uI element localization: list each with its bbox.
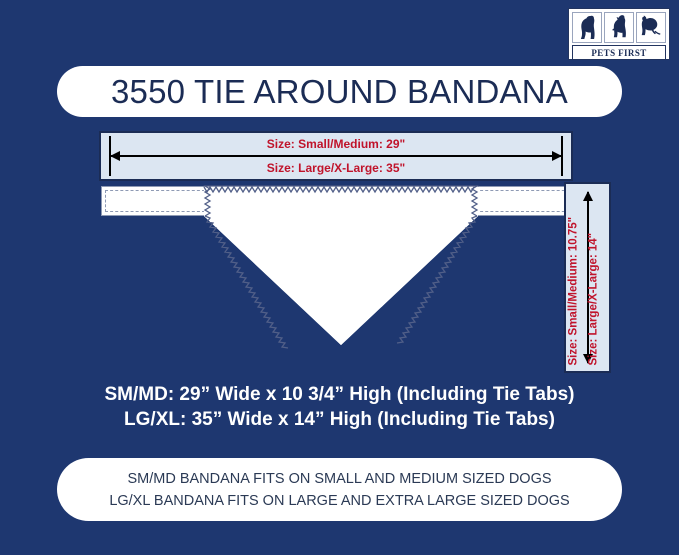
width-arrow-line	[111, 155, 561, 157]
dog-alert-icon	[636, 12, 666, 43]
height-label-small-medium: Size: Small/Medium: 10.75"	[569, 216, 581, 365]
page-title: 3550 TIE AROUND BANDANA	[57, 66, 622, 117]
logo-wordmark: PETS FIRST	[572, 45, 666, 60]
fit-line-sm-md: SM/MD BANDANA FITS ON SMALL AND MEDIUM S…	[127, 468, 551, 490]
height-label-large-xlarge: Size: Large/X-Large: 14"	[589, 232, 601, 365]
dog-standing-icon	[604, 12, 634, 43]
tie-tab-left	[101, 186, 209, 216]
fit-line-lg-xl: LG/XL BANDANA FITS ON LARGE AND EXTRA LA…	[109, 490, 569, 512]
spec-dimension-lines: SM/MD: 29” Wide x 10 3/4” High (Includin…	[0, 382, 679, 432]
width-dimension-bar: Size: Small/Medium: 29" Size: Large/X-La…	[99, 131, 573, 181]
height-arrowhead-top-icon	[583, 191, 593, 201]
spec-line-sm-md: SM/MD: 29” Wide x 10 3/4” High (Includin…	[0, 382, 679, 407]
dog-sitting-icon	[572, 12, 602, 43]
width-arrowhead-right-icon	[552, 151, 562, 161]
page-title-text: 3550 TIE AROUND BANDANA	[111, 73, 568, 111]
brand-logo: PETS FIRST	[568, 8, 670, 60]
height-dimension-bar: Size: Small/Medium: 10.75" Size: Large/X…	[564, 182, 611, 373]
tie-tab-right	[471, 186, 579, 216]
width-arrowhead-left-icon	[110, 151, 120, 161]
width-label-large-xlarge: Size: Large/X-Large: 35"	[101, 161, 571, 175]
fit-statement-box: SM/MD BANDANA FITS ON SMALL AND MEDIUM S…	[57, 458, 622, 521]
logo-dog-frames	[572, 12, 666, 43]
spec-line-lg-xl: LG/XL: 35” Wide x 14” High (Including Ti…	[0, 407, 679, 432]
product-spec-sheet: PETS FIRST 3550 TIE AROUND BANDANA Size:…	[0, 0, 679, 555]
